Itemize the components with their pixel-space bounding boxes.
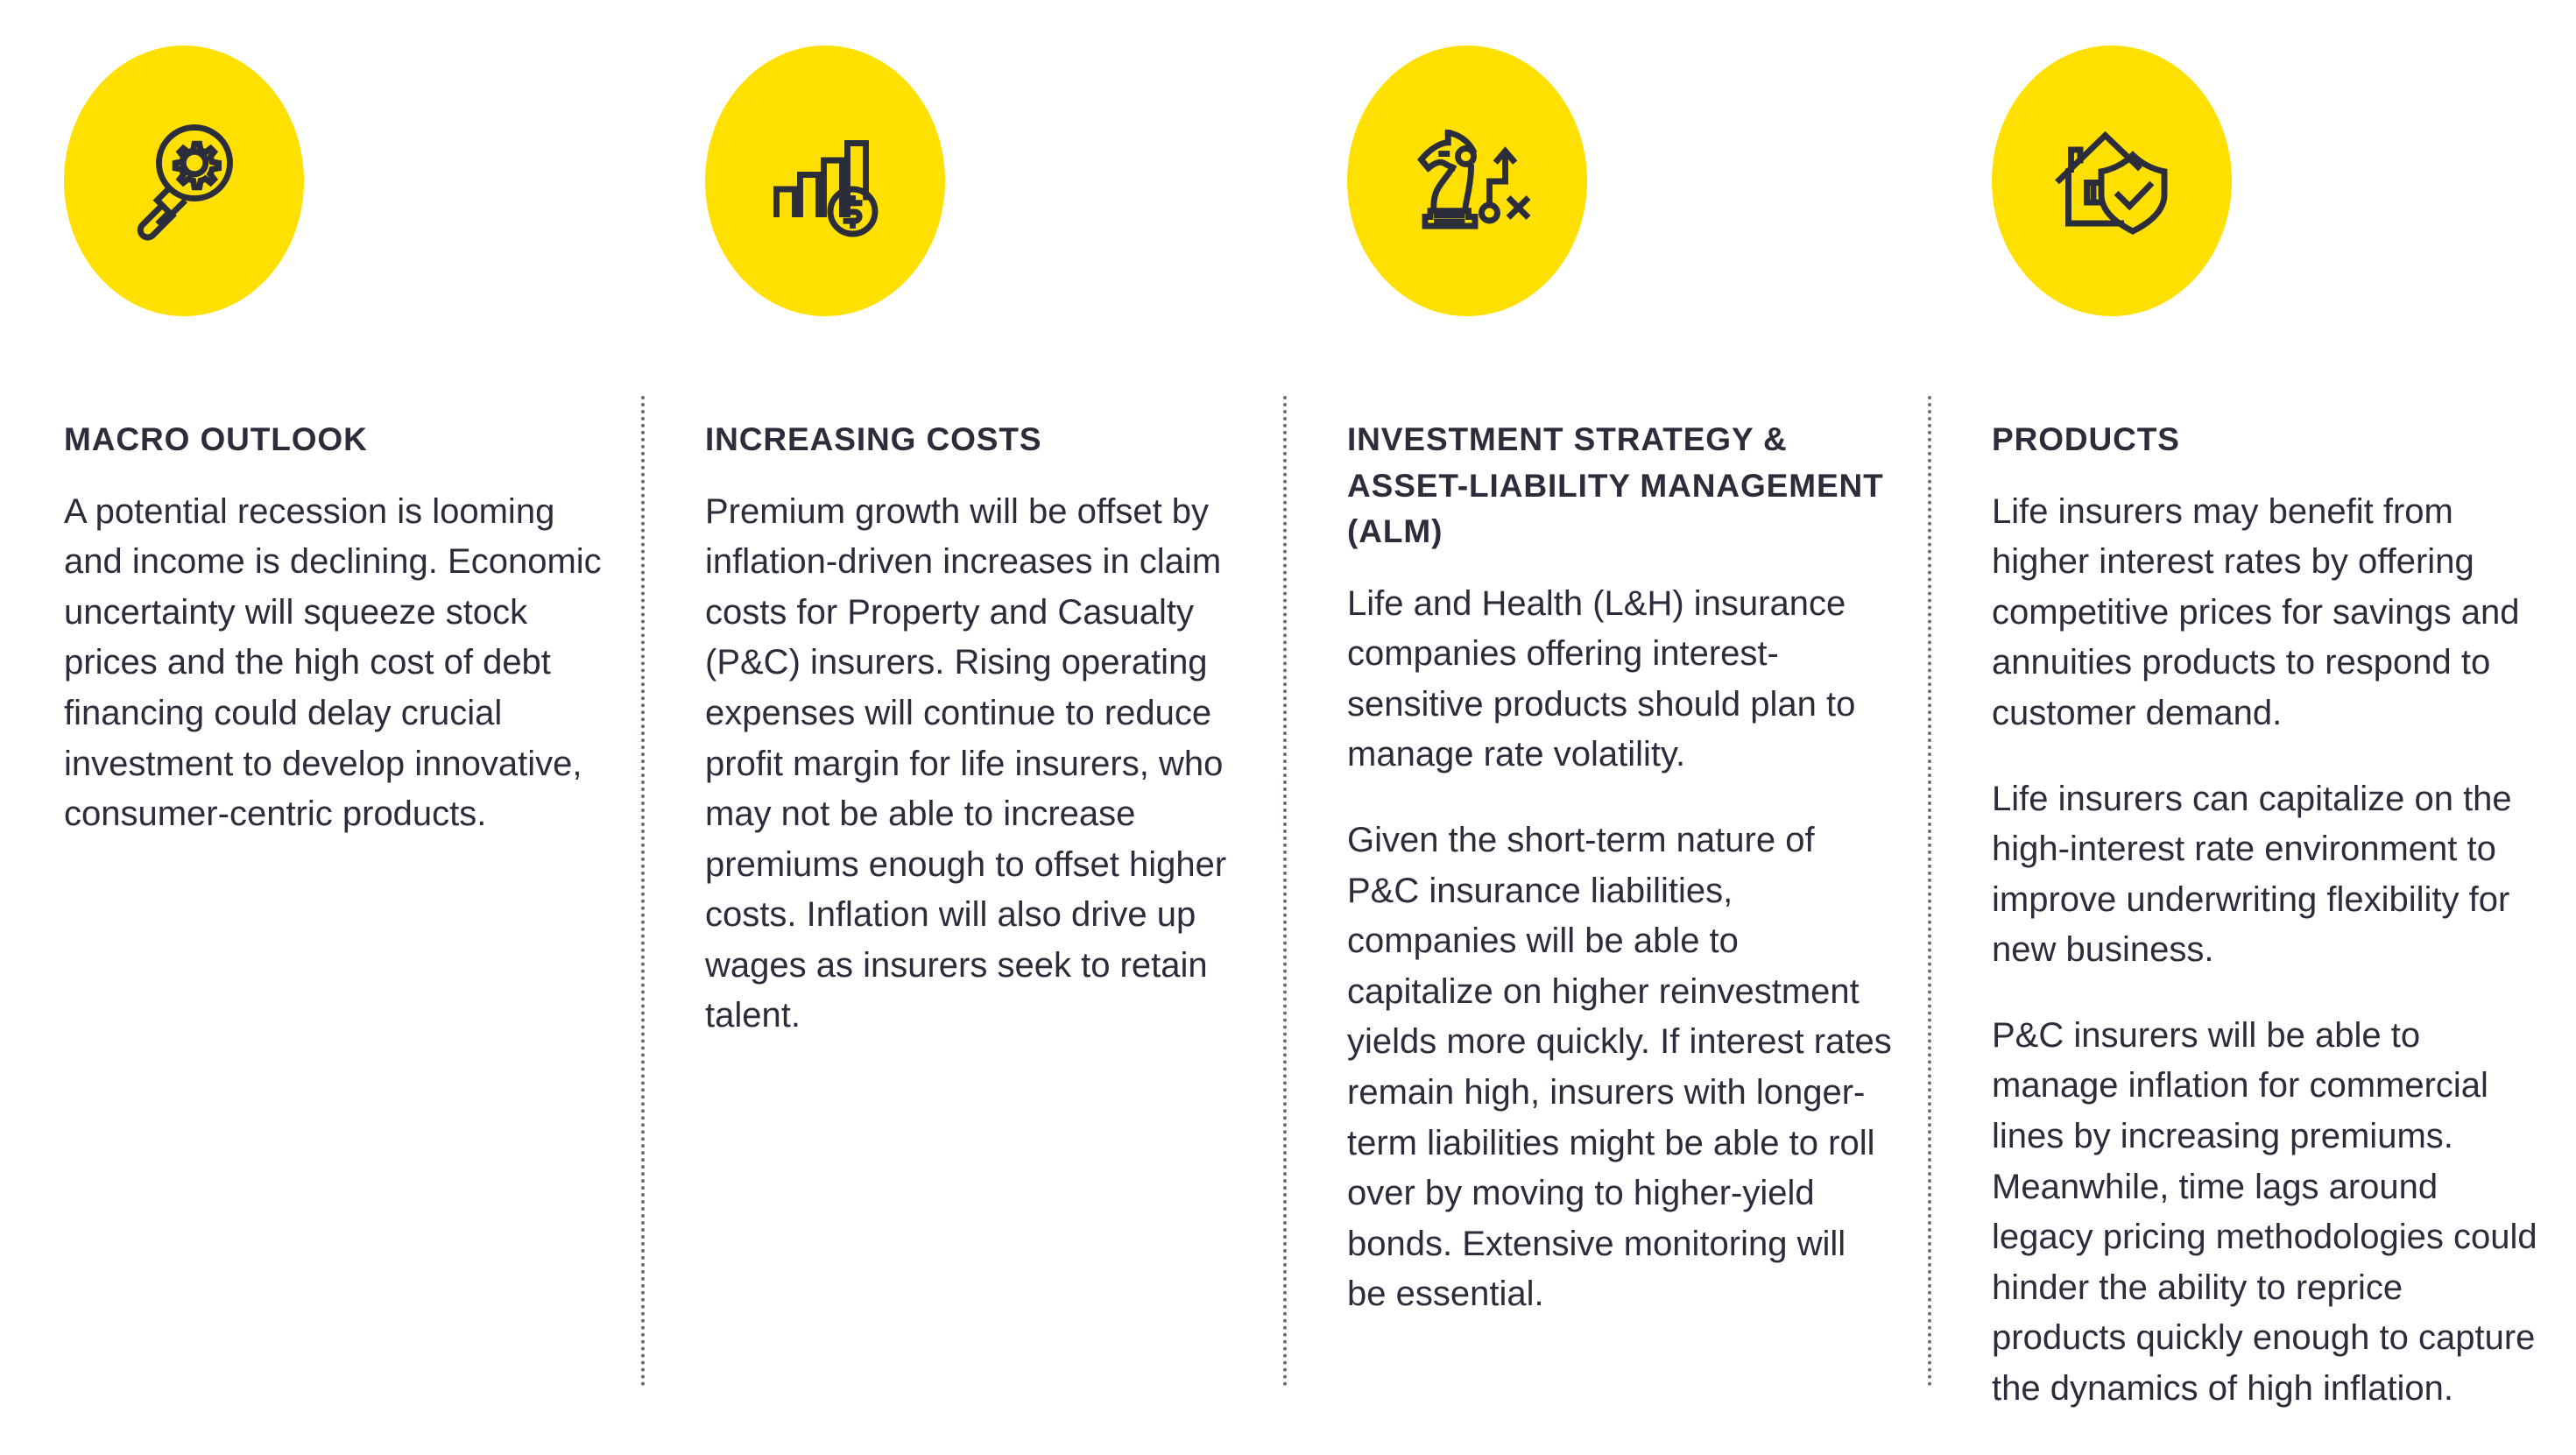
column-paragraph: Life insurers can capitalize on the high…	[1992, 774, 2541, 976]
chess-knight-strategy-icon-badge	[1347, 46, 1587, 316]
chess-knight-strategy-icon	[1401, 116, 1533, 247]
column-heading: INVESTMENT STRATEGY & ASSET-LIABILITY MA…	[1347, 417, 1893, 555]
magnifier-gear-icon	[118, 116, 250, 247]
column-paragraph: P&C insurers will be able to manage infl…	[1992, 1011, 2541, 1415]
bar-chart-dollar-coin-icon-badge	[705, 46, 945, 316]
column-heading: MACRO OUTLOOK	[64, 417, 606, 463]
column-investment-strategy: INVESTMENT STRATEGY & ASSET-LIABILITY MA…	[1283, 0, 1928, 1455]
column-products: PRODUCTS Life insurers may benefit from …	[1928, 0, 2576, 1455]
column-paragraph: Given the short-term nature of P&C insur…	[1347, 816, 1893, 1320]
column-paragraph: Life insurers may benefit from higher in…	[1992, 487, 2541, 739]
column-paragraph: Premium growth will be offset by inflati…	[705, 487, 1248, 1042]
column-container: MACRO OUTLOOK A potential recession is l…	[0, 0, 2576, 1455]
column-heading: INCREASING COSTS	[705, 417, 1248, 463]
column-paragraph: A potential recession is looming and inc…	[64, 487, 606, 840]
column-paragraph: Life and Health (L&H) insurance companie…	[1347, 579, 1893, 780]
house-shield-check-icon-badge	[1992, 46, 2232, 316]
column-macro-outlook: MACRO OUTLOOK A potential recession is l…	[0, 0, 641, 1455]
column-heading: PRODUCTS	[1992, 417, 2541, 463]
house-shield-check-icon	[2046, 116, 2177, 247]
bar-chart-dollar-coin-icon	[759, 116, 891, 247]
magnifier-gear-icon-badge	[64, 46, 304, 316]
column-increasing-costs: INCREASING COSTS Premium growth will be …	[641, 0, 1283, 1455]
column-divider	[1283, 396, 1287, 1387]
insurance-outlook-infographic: MACRO OUTLOOK A potential recession is l…	[0, 0, 2576, 1455]
column-divider	[641, 396, 645, 1387]
column-divider	[1928, 396, 1931, 1387]
